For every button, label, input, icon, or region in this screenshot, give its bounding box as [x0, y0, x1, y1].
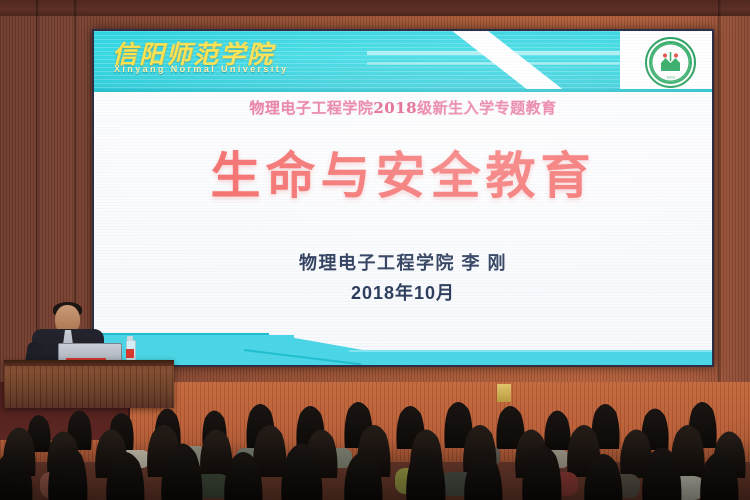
university-wordmark-en: Xinyang Normal University — [114, 64, 289, 74]
water-bottle-cap — [127, 336, 133, 341]
projection-screen-frame: 信阳师范学院 Xinyang Normal University 1903 — [92, 29, 714, 367]
subtitle-suffix: 级新生入学专题教育 — [417, 99, 557, 117]
slide-date: 2018年10月 — [94, 279, 712, 305]
subtitle-year: 2018 — [373, 99, 417, 117]
presentation-slide: 信阳师范学院 Xinyang Normal University 1903 — [94, 31, 712, 365]
svg-text:1903: 1903 — [666, 76, 675, 80]
emblem-figure-icon: 1903 — [647, 39, 694, 86]
wall-panel-seam — [718, 0, 721, 392]
university-emblem-icon: 1903 — [645, 37, 696, 88]
slide-header-band: 信阳师范学院 Xinyang Normal University 1903 — [94, 31, 712, 89]
water-bottle-label — [126, 349, 134, 358]
audience-silhouettes — [0, 388, 750, 500]
footer-bottom-strip — [94, 352, 712, 365]
header-underline — [94, 89, 712, 92]
footer-accent-line — [94, 333, 269, 335]
audience — [0, 388, 750, 500]
slide-footer-band — [94, 317, 712, 365]
ceiling-beam — [0, 0, 750, 16]
slide-subtitle: 物理电子工程学院2018级新生入学专题教育 — [94, 97, 712, 118]
podium-top-edge — [4, 360, 174, 366]
subtitle-prefix: 物理电子工程学院 — [249, 99, 373, 117]
slide-presenter: 物理电子工程学院 李 刚 — [94, 249, 712, 275]
slide-main-title: 生命与安全教育 — [94, 136, 712, 208]
footer-accent-line — [349, 350, 712, 352]
lecture-hall-photo: 信阳师范学院 Xinyang Normal University 1903 — [0, 0, 750, 500]
